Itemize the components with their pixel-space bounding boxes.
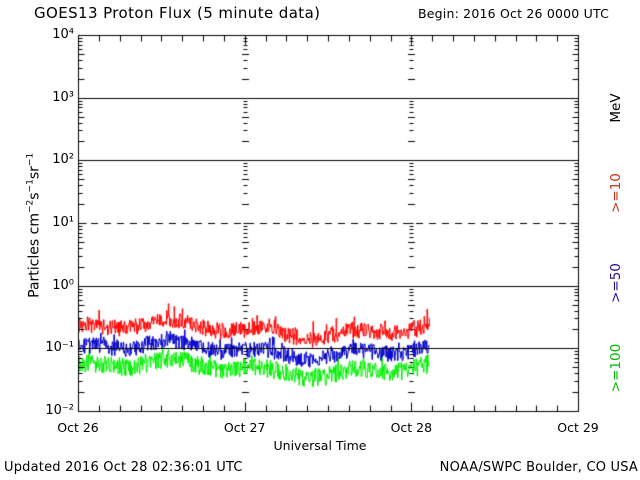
x-axis-label: Universal Time <box>0 440 640 453</box>
x-tick-0: Oct 26 <box>57 422 99 435</box>
updated-timestamp: Updated 2016 Oct 28 02:36:01 UTC <box>4 461 243 474</box>
legend: MeV>=10>=50>=100 <box>596 0 640 480</box>
x-tick-2: Oct 28 <box>391 422 433 435</box>
source-attribution: NOAA/SWPC Boulder, CO USA <box>440 461 638 474</box>
proton-flux-plot: GOES13 Proton Flux (5 minute data) Begin… <box>0 0 640 480</box>
x-tick-3: Oct 29 <box>557 422 599 435</box>
legend-item-100: >=100 <box>608 308 624 428</box>
x-tick-1: Oct 27 <box>224 422 266 435</box>
flux-chart-canvas <box>0 0 640 480</box>
